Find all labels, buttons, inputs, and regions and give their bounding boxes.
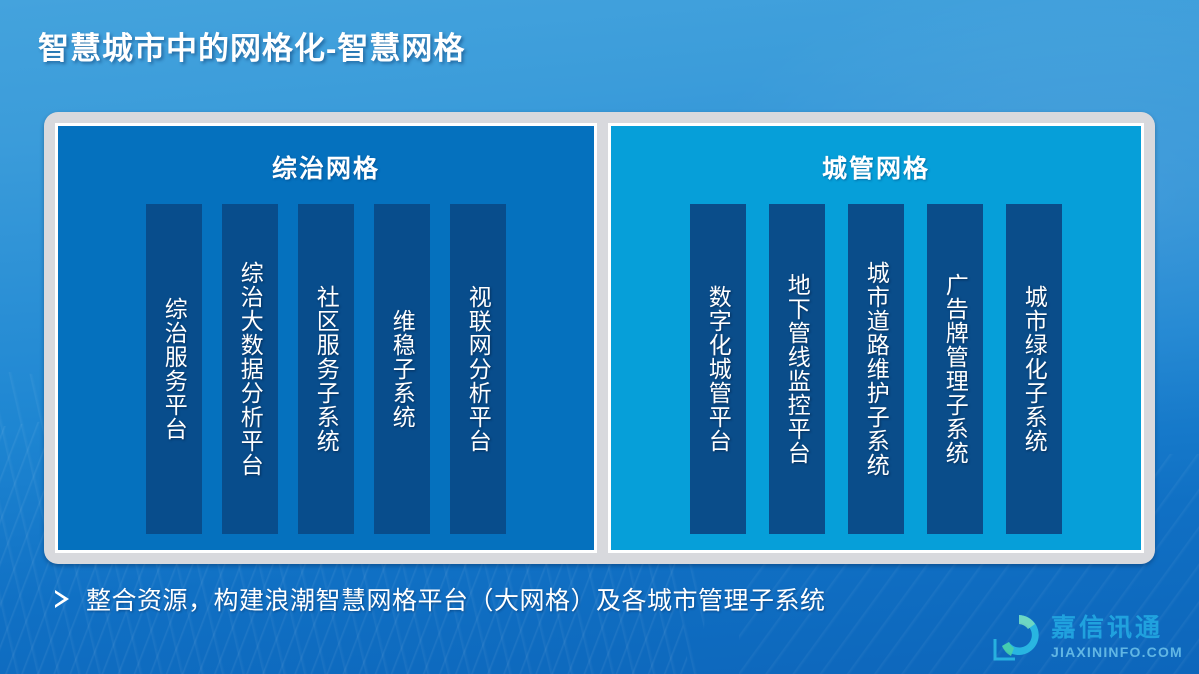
grid-column[interactable]: 综治大数据分析平台 bbox=[222, 204, 278, 534]
logo-domain: JIAXININFO.COM bbox=[1051, 645, 1183, 659]
circular-arrow-logo-icon bbox=[989, 611, 1045, 663]
column-group-comprehensive: 综治服务平台 综治大数据分析平台 社区服务子系统 维稳子系统 视联网分析平台 bbox=[58, 204, 594, 534]
grid-column[interactable]: 城市绿化子系统 bbox=[1006, 204, 1062, 534]
grid-column[interactable]: 地下管线监控平台 bbox=[769, 204, 825, 534]
grid-column[interactable]: 城市道路维护子系统 bbox=[848, 204, 904, 534]
grid-column-label: 地下管线监控平台 bbox=[785, 273, 810, 465]
diagram-frame: 综治网格 综治服务平台 综治大数据分析平台 社区服务子系统 维稳子系统 视联网分… bbox=[44, 112, 1155, 564]
grid-column-label: 视联网分析平台 bbox=[466, 285, 491, 453]
caption-text: 整合资源，构建浪潮智慧网格平台（大网格）及各城市管理子系统 bbox=[86, 581, 826, 617]
grid-column-label: 数字化城管平台 bbox=[706, 285, 731, 453]
grid-column-label: 广告牌管理子系统 bbox=[943, 273, 968, 465]
slide-canvas: 智慧城市中的网格化-智慧网格 综治网格 综治服务平台 综治大数据分析平台 社区服… bbox=[0, 0, 1199, 674]
page-title: 智慧城市中的网格化-智慧网格 bbox=[38, 23, 465, 68]
grid-column[interactable]: 广告牌管理子系统 bbox=[927, 204, 983, 534]
panel-title-urban: 城管网格 bbox=[822, 149, 930, 185]
grid-column[interactable]: 综治服务平台 bbox=[146, 204, 202, 534]
grid-column-label: 城市绿化子系统 bbox=[1022, 285, 1047, 453]
grid-column[interactable]: 视联网分析平台 bbox=[450, 204, 506, 534]
logo-name: 嘉信讯通 bbox=[1051, 616, 1183, 641]
grid-column-label: 城市道路维护子系统 bbox=[864, 261, 889, 477]
grid-column-label: 维稳子系统 bbox=[390, 309, 415, 429]
bottom-caption: 整合资源，构建浪潮智慧网格平台（大网格）及各城市管理子系统 bbox=[52, 581, 826, 617]
grid-column[interactable]: 社区服务子系统 bbox=[298, 204, 354, 534]
grid-column[interactable]: 维稳子系统 bbox=[374, 204, 430, 534]
grid-column[interactable]: 数字化城管平台 bbox=[690, 204, 746, 534]
panel-title-comprehensive: 综治网格 bbox=[272, 149, 380, 185]
grid-column-label: 综治大数据分析平台 bbox=[238, 261, 263, 477]
panel-comprehensive-governance-grid: 综治网格 综治服务平台 综治大数据分析平台 社区服务子系统 维稳子系统 视联网分… bbox=[55, 123, 597, 553]
grid-column-label: 综治服务平台 bbox=[162, 297, 187, 441]
arrow-bullet-icon bbox=[52, 587, 72, 611]
logo-wordmark: 嘉信讯通 JIAXININFO.COM bbox=[1051, 616, 1183, 659]
panel-urban-management-grid: 城管网格 数字化城管平台 地下管线监控平台 城市道路维护子系统 广告牌管理子系统… bbox=[608, 123, 1144, 553]
column-group-urban: 数字化城管平台 地下管线监控平台 城市道路维护子系统 广告牌管理子系统 城市绿化… bbox=[611, 204, 1141, 534]
watermark-logo: 嘉信讯通 JIAXININFO.COM bbox=[989, 604, 1194, 670]
grid-column-label: 社区服务子系统 bbox=[314, 285, 339, 453]
